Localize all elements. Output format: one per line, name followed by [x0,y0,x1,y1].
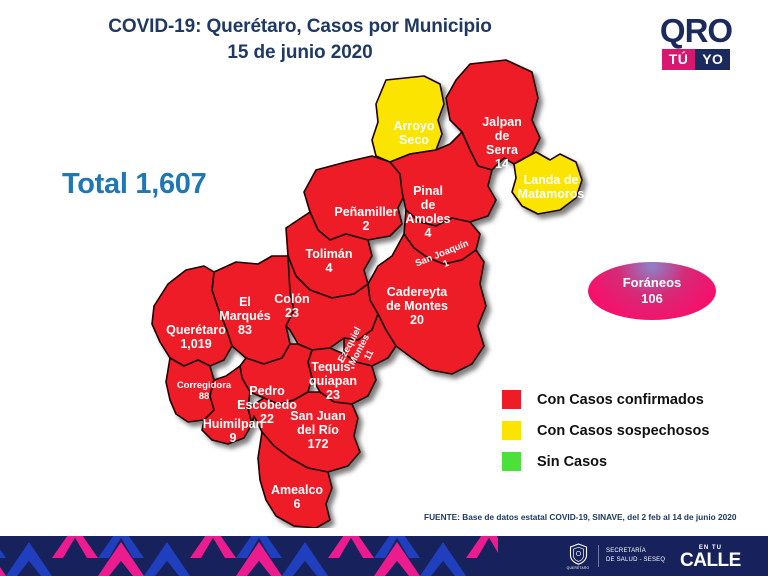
map-legend: Con Casos confirmadosCon Casos sospechos… [502,390,709,483]
logo-divider [598,545,599,567]
seal-caption: QUERÉTARO [567,566,590,570]
legend-swatch-1 [502,421,521,440]
queretaro-seal-icon: QUERÉTARO [565,541,591,571]
qro-yo-label: YO [695,49,730,70]
agency-line-2: DE SALUD - SESEQ [606,556,665,565]
legend-label: Sin Casos [537,454,607,470]
source-note: FUENTE: Base de datos estatal COVID-19, … [424,512,736,522]
legend-swatch-2 [502,452,521,471]
qro-wordmark: QRO [640,14,752,47]
seseq-logo: QUERÉTARO SECRETARÍA DE SALUD - SESEQ [565,540,665,572]
calle-main-label: CALLE [680,551,741,570]
map-region-label: Landa deMatamoros [518,173,585,201]
legend-row: Sin Casos [502,452,709,471]
footer-band: QUERÉTARO SECRETARÍA DE SALUD - SESEQ EN… [0,536,768,576]
foraneos-label: Foráneos [623,275,682,291]
agency-name: SECRETARÍA DE SALUD - SESEQ [606,547,665,565]
legend-row: Con Casos sospechosos [502,421,709,440]
title-line-1: COVID-19: Querétaro, Casos por Municipio [60,14,540,40]
legend-swatch-0 [502,390,521,409]
legend-label: Con Casos sospechosos [537,423,709,439]
qro-tu-label: TÚ [662,49,695,70]
legend-row: Con Casos confirmados [502,390,709,409]
foraneos-value: 106 [641,291,663,307]
map-region-label: ArroyoSeco [394,119,435,147]
map-region[interactable] [304,156,406,240]
foraneos-bubble: Foráneos 106 [588,262,716,320]
slide-canvas: COVID-19: Querétaro, Casos por Municipio… [0,0,768,576]
legend-label: Con Casos confirmados [537,392,704,408]
qro-tagline: TÚ YO [640,49,752,70]
agency-line-1: SECRETARÍA [606,547,665,556]
qro-logo: QRO TÚ YO [640,14,752,76]
en-tu-calle-logo: EN TU CALLE [680,545,741,570]
